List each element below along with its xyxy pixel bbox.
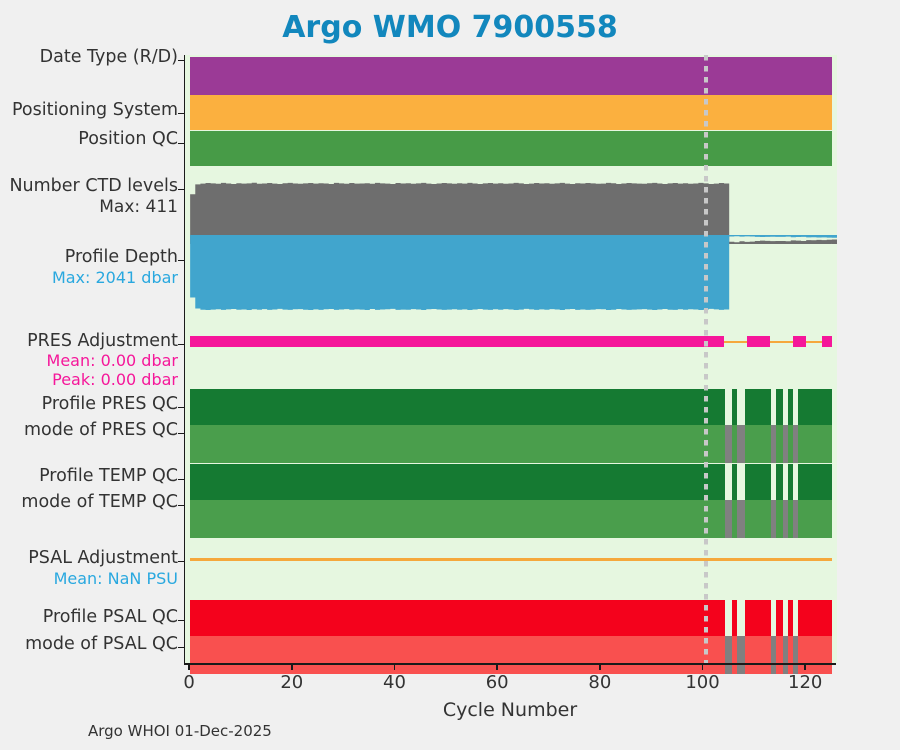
row-sublabel-psal-adjustment: Mean: NaN PSU xyxy=(54,571,178,588)
row-label-pres-adjustment: PRES Adjustment xyxy=(27,332,178,350)
row-label-position-qc: Position QC xyxy=(78,130,178,148)
band-mode-of-pres-qc xyxy=(190,425,832,463)
row-label-number-ctd-levels: Number CTD levels xyxy=(9,177,178,195)
y-tick xyxy=(178,433,184,434)
x-tick xyxy=(394,663,395,670)
qc-gap xyxy=(783,600,788,636)
band-profile-temp-qc xyxy=(190,464,832,500)
x-tick-label: 120 xyxy=(788,672,822,693)
row-label-mode-of-psal-qc: mode of PSAL QC xyxy=(25,635,178,653)
band-mode-of-psal-qc xyxy=(190,636,832,674)
pres-adjustment-segment xyxy=(822,336,832,347)
qc-gap xyxy=(783,636,788,674)
qc-gap xyxy=(771,600,776,636)
row-label-profile-pres-qc: Profile PRES QC xyxy=(42,395,178,413)
row-sublabel2-pres-adjustment: Peak: 0.00 dbar xyxy=(52,372,178,389)
pres-adjustment-segment xyxy=(747,336,770,347)
qc-gap xyxy=(771,389,776,425)
qc-gap xyxy=(771,464,776,500)
y-tick xyxy=(178,561,184,562)
row-label-psal-adjustment: PSAL Adjustment xyxy=(28,549,178,567)
qc-gap xyxy=(737,389,744,425)
qc-gap xyxy=(783,464,788,500)
x-tick-label: 20 xyxy=(280,672,303,693)
qc-gap xyxy=(793,600,798,636)
x-tick-label: 40 xyxy=(383,672,406,693)
row-sublabel-profile-depth: Max: 2041 dbar xyxy=(52,270,178,287)
y-tick xyxy=(178,143,184,144)
qc-gap xyxy=(783,425,788,463)
qc-gap xyxy=(771,425,776,463)
qc-gap xyxy=(771,636,776,674)
row-label-mode-of-pres-qc: mode of PRES QC xyxy=(24,421,178,439)
y-tick xyxy=(178,647,184,648)
x-tick xyxy=(188,663,189,670)
x-tick xyxy=(702,663,703,670)
cycle-marker-line xyxy=(704,55,708,663)
psal-adjustment-line xyxy=(190,558,832,561)
qc-gap xyxy=(725,389,732,425)
qc-gap xyxy=(725,500,732,538)
x-tick xyxy=(599,663,600,670)
qc-gap xyxy=(771,500,776,538)
qc-gap xyxy=(793,500,798,538)
pres-adjustment-segment xyxy=(793,336,806,347)
x-axis-label: Cycle Number xyxy=(184,699,836,721)
qc-gap xyxy=(737,500,744,538)
figure-footer: Argo WHOI 01-Dec-2025 xyxy=(88,722,272,740)
y-tick xyxy=(178,344,184,345)
row-label-mode-of-temp-qc: mode of TEMP QC xyxy=(21,493,178,511)
qc-gap xyxy=(793,636,798,674)
y-tick xyxy=(178,505,184,506)
plot-area xyxy=(184,55,837,663)
qc-gap xyxy=(725,425,732,463)
row-label-date-type: Date Type (R/D) xyxy=(40,48,178,66)
qc-gap xyxy=(737,464,744,500)
row-label-positioning-system: Positioning System xyxy=(12,101,178,119)
band-position-qc xyxy=(190,131,832,166)
page-title: Argo WMO 7900558 xyxy=(0,10,900,45)
qc-gap xyxy=(725,464,732,500)
qc-gap xyxy=(725,636,732,674)
y-tick xyxy=(178,189,184,190)
row-label-profile-depth: Profile Depth xyxy=(65,248,178,266)
band-mode-of-temp-qc xyxy=(190,500,832,538)
band-profile-psal-qc xyxy=(190,600,832,636)
y-tick xyxy=(178,479,184,480)
x-tick xyxy=(804,663,805,670)
x-tick xyxy=(291,663,292,670)
x-tick-label: 60 xyxy=(486,672,509,693)
qc-gap xyxy=(783,389,788,425)
qc-gap xyxy=(793,464,798,500)
y-tick xyxy=(178,260,184,261)
pres-adjustment-segment xyxy=(190,336,724,347)
row-sublabel-number-ctd-levels: Max: 411 xyxy=(99,199,178,217)
band-profile-pres-qc xyxy=(190,389,832,425)
y-tick xyxy=(178,407,184,408)
qc-gap xyxy=(793,389,798,425)
qc-gap xyxy=(725,600,732,636)
qc-gap xyxy=(737,425,744,463)
qc-gap xyxy=(737,636,744,674)
x-axis-line xyxy=(184,663,836,665)
band-positioning-system xyxy=(190,95,832,130)
argo-timeline-figure: Argo WMO 7900558 020406080100120 Cycle N… xyxy=(0,0,900,750)
y-tick xyxy=(178,60,184,61)
x-tick-label: 80 xyxy=(588,672,611,693)
y-tick xyxy=(178,620,184,621)
y-tick xyxy=(178,113,184,114)
band-date-type xyxy=(190,57,832,95)
area-profile-depth xyxy=(185,235,837,310)
row-label-profile-temp-qc: Profile TEMP QC xyxy=(39,467,178,485)
qc-gap xyxy=(737,600,744,636)
x-tick xyxy=(496,663,497,670)
x-tick-label: 0 xyxy=(183,672,194,693)
row-label-profile-psal-qc: Profile PSAL QC xyxy=(43,608,178,626)
row-sublabel-pres-adjustment: Mean: 0.00 dbar xyxy=(47,353,178,370)
x-tick-label: 100 xyxy=(685,672,719,693)
qc-gap xyxy=(783,500,788,538)
qc-gap xyxy=(793,425,798,463)
